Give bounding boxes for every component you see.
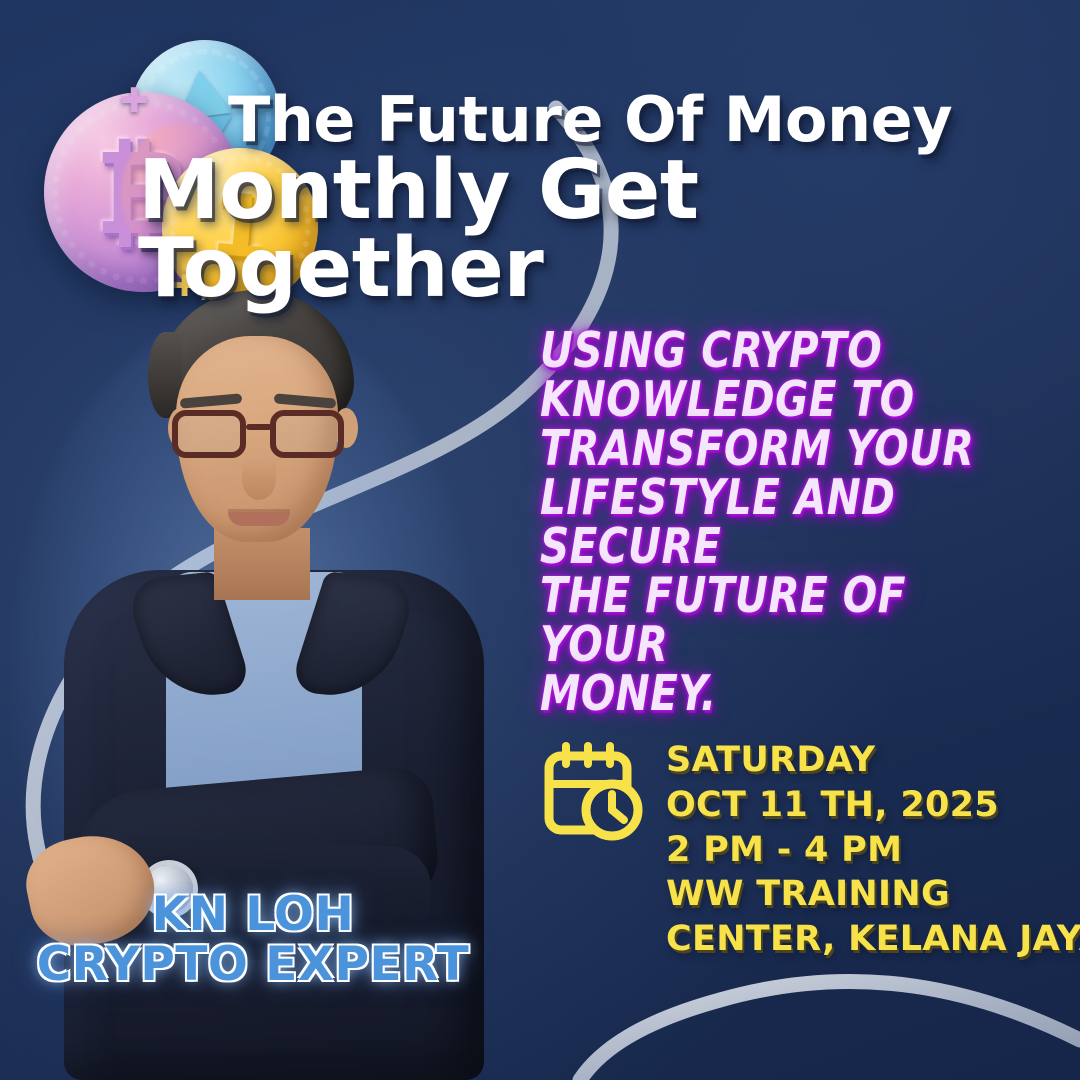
tagline-line: TRANSFORM YOUR bbox=[540, 424, 1000, 473]
detail-time: 2 PM - 4 PM bbox=[666, 828, 1080, 873]
event-poster: ₿ 1 ✚ ✚ ✚ The Fut bbox=[0, 0, 1080, 1080]
sparkle-icon: ✚ bbox=[120, 84, 149, 118]
calendar-clock-icon bbox=[540, 742, 644, 847]
tagline-line: KNOWLEDGE TO bbox=[540, 375, 1000, 424]
tagline-line: LIFESTYLE AND SECURE bbox=[540, 473, 1000, 571]
glasses bbox=[170, 410, 346, 460]
speaker-credit: KN LOH CRYPTO EXPERT bbox=[18, 890, 488, 990]
detail-date: OCT 11 TH, 2025 bbox=[666, 783, 1080, 828]
event-details: SATURDAY OCT 11 TH, 2025 2 PM - 4 PM WW … bbox=[540, 738, 1080, 962]
detail-lines: SATURDAY OCT 11 TH, 2025 2 PM - 4 PM WW … bbox=[666, 738, 1080, 962]
page-title: The Future Of Money Monthly Get Together bbox=[228, 90, 1028, 309]
tagline-block: USING CRYPTO KNOWLEDGE TO TRANSFORM YOUR… bbox=[540, 326, 1040, 718]
detail-day: SATURDAY bbox=[666, 738, 1080, 783]
title-line-1: The Future Of Money bbox=[228, 90, 1028, 150]
title-line-2: Monthly Get Together bbox=[138, 152, 1028, 309]
tagline-line: USING CRYPTO bbox=[540, 326, 1000, 375]
nose bbox=[242, 458, 276, 500]
lens-left bbox=[172, 410, 246, 458]
speaker-role: CRYPTO EXPERT bbox=[18, 940, 488, 990]
lens-right bbox=[270, 410, 344, 458]
detail-venue-2: CENTER, KELANA JAYA bbox=[666, 917, 1080, 962]
tagline-line: THE FUTURE OF YOUR bbox=[540, 571, 1000, 669]
glasses-bridge bbox=[246, 424, 272, 430]
tagline-line: MONEY. bbox=[540, 669, 1000, 718]
mouth bbox=[228, 512, 290, 526]
speaker-name: KN LOH bbox=[18, 890, 488, 940]
detail-venue-1: WW TRAINING bbox=[666, 872, 1080, 917]
